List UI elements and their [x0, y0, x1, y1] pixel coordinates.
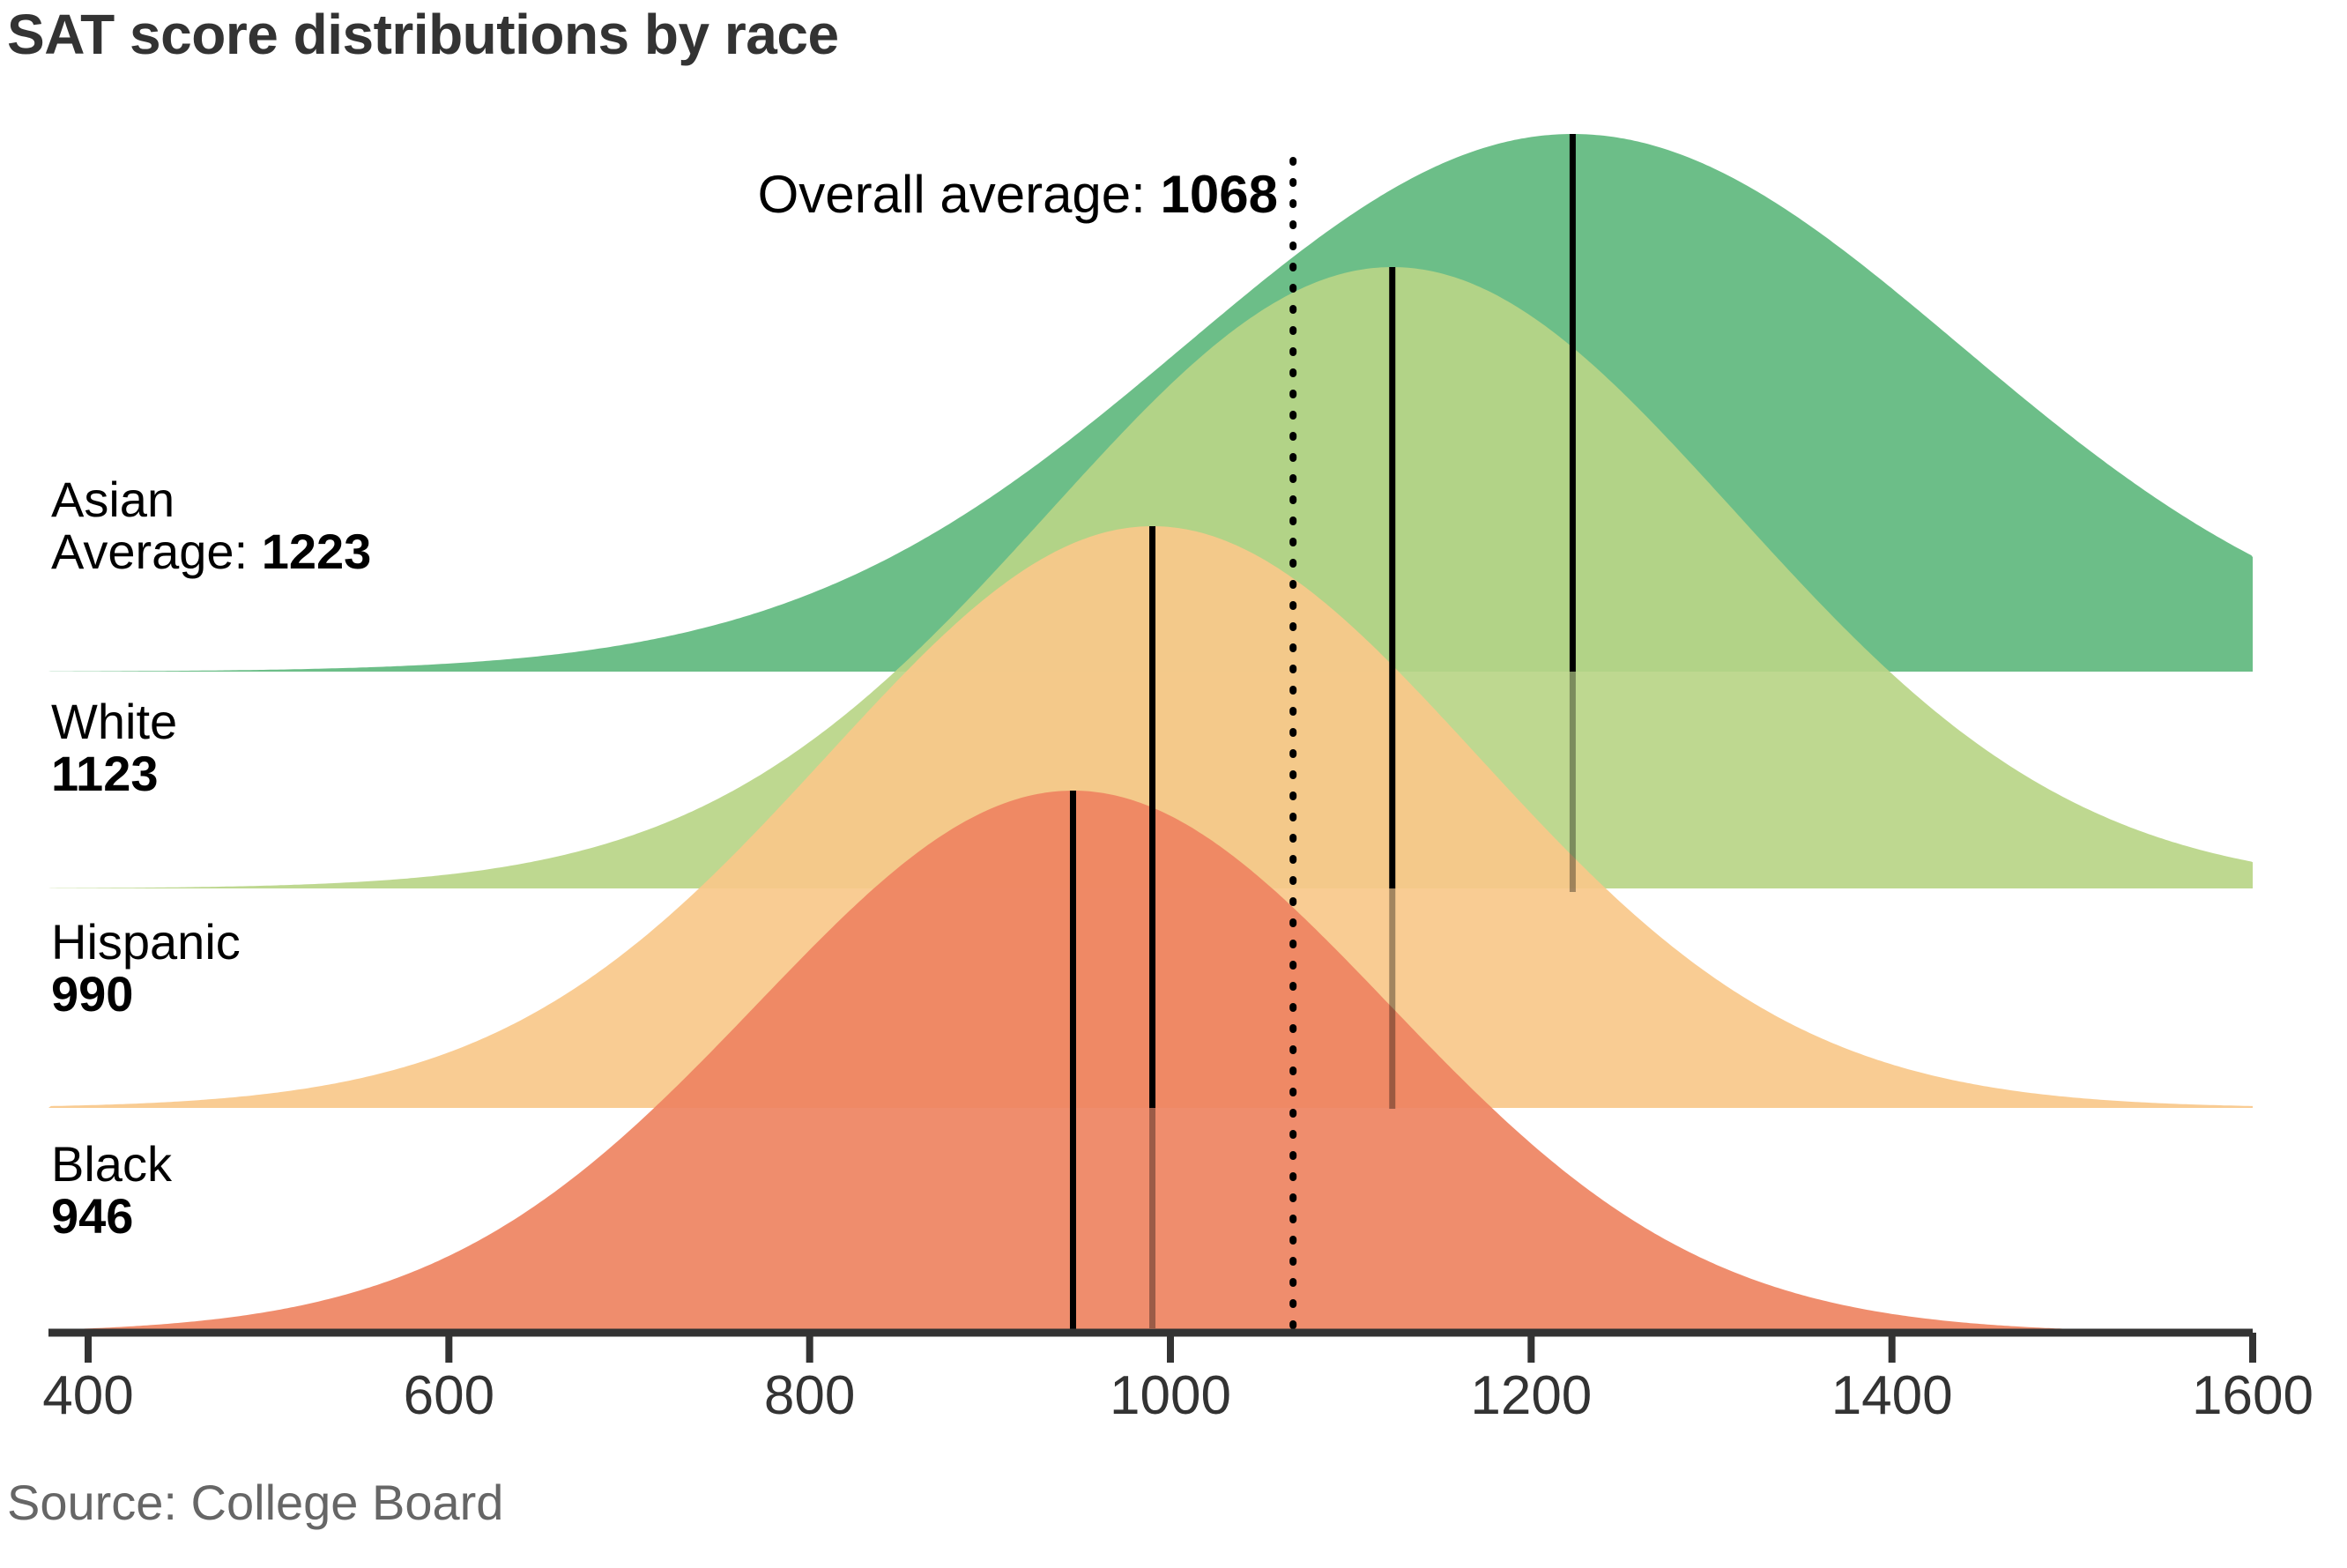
- x-tick-label-1000: 1000: [1110, 1364, 1231, 1427]
- x-tick-label-1200: 1200: [1470, 1364, 1592, 1427]
- row-value-black: 946: [51, 1191, 172, 1243]
- row-value-prefix-asian: Average:: [51, 524, 262, 579]
- row-name-hispanic: Hispanic: [51, 917, 241, 969]
- row-label-asian: Asian Average: 1223: [51, 474, 371, 578]
- x-tick-label-600: 600: [404, 1364, 494, 1427]
- overall-average-prefix: Overall average:: [758, 165, 1161, 224]
- overall-average-annotation: Overall average: 1068: [758, 164, 1278, 225]
- source-note: Source: College Board: [7, 1474, 503, 1531]
- row-name-asian: Asian: [51, 474, 371, 526]
- row-value-white: 1123: [51, 748, 177, 800]
- row-label-white: White 1123: [51, 696, 177, 800]
- row-value-number-asian: 1223: [262, 524, 372, 579]
- x-tick-label-1600: 1600: [2192, 1364, 2314, 1427]
- row-label-hispanic: Hispanic 990: [51, 917, 241, 1021]
- row-label-black: Black 946: [51, 1139, 172, 1243]
- row-name-white: White: [51, 696, 177, 748]
- x-tick-label-1400: 1400: [1831, 1364, 1953, 1427]
- ridgeline-plot: [0, 0, 2347, 1568]
- chart-page: SAT score distributions by race Overall …: [0, 0, 2347, 1568]
- x-tick-label-800: 800: [764, 1364, 855, 1427]
- row-value-asian: Average: 1223: [51, 526, 371, 578]
- row-value-hispanic: 990: [51, 969, 241, 1021]
- x-tick-label-400: 400: [42, 1364, 133, 1427]
- row-name-black: Black: [51, 1139, 172, 1191]
- overall-average-value: 1068: [1161, 165, 1278, 224]
